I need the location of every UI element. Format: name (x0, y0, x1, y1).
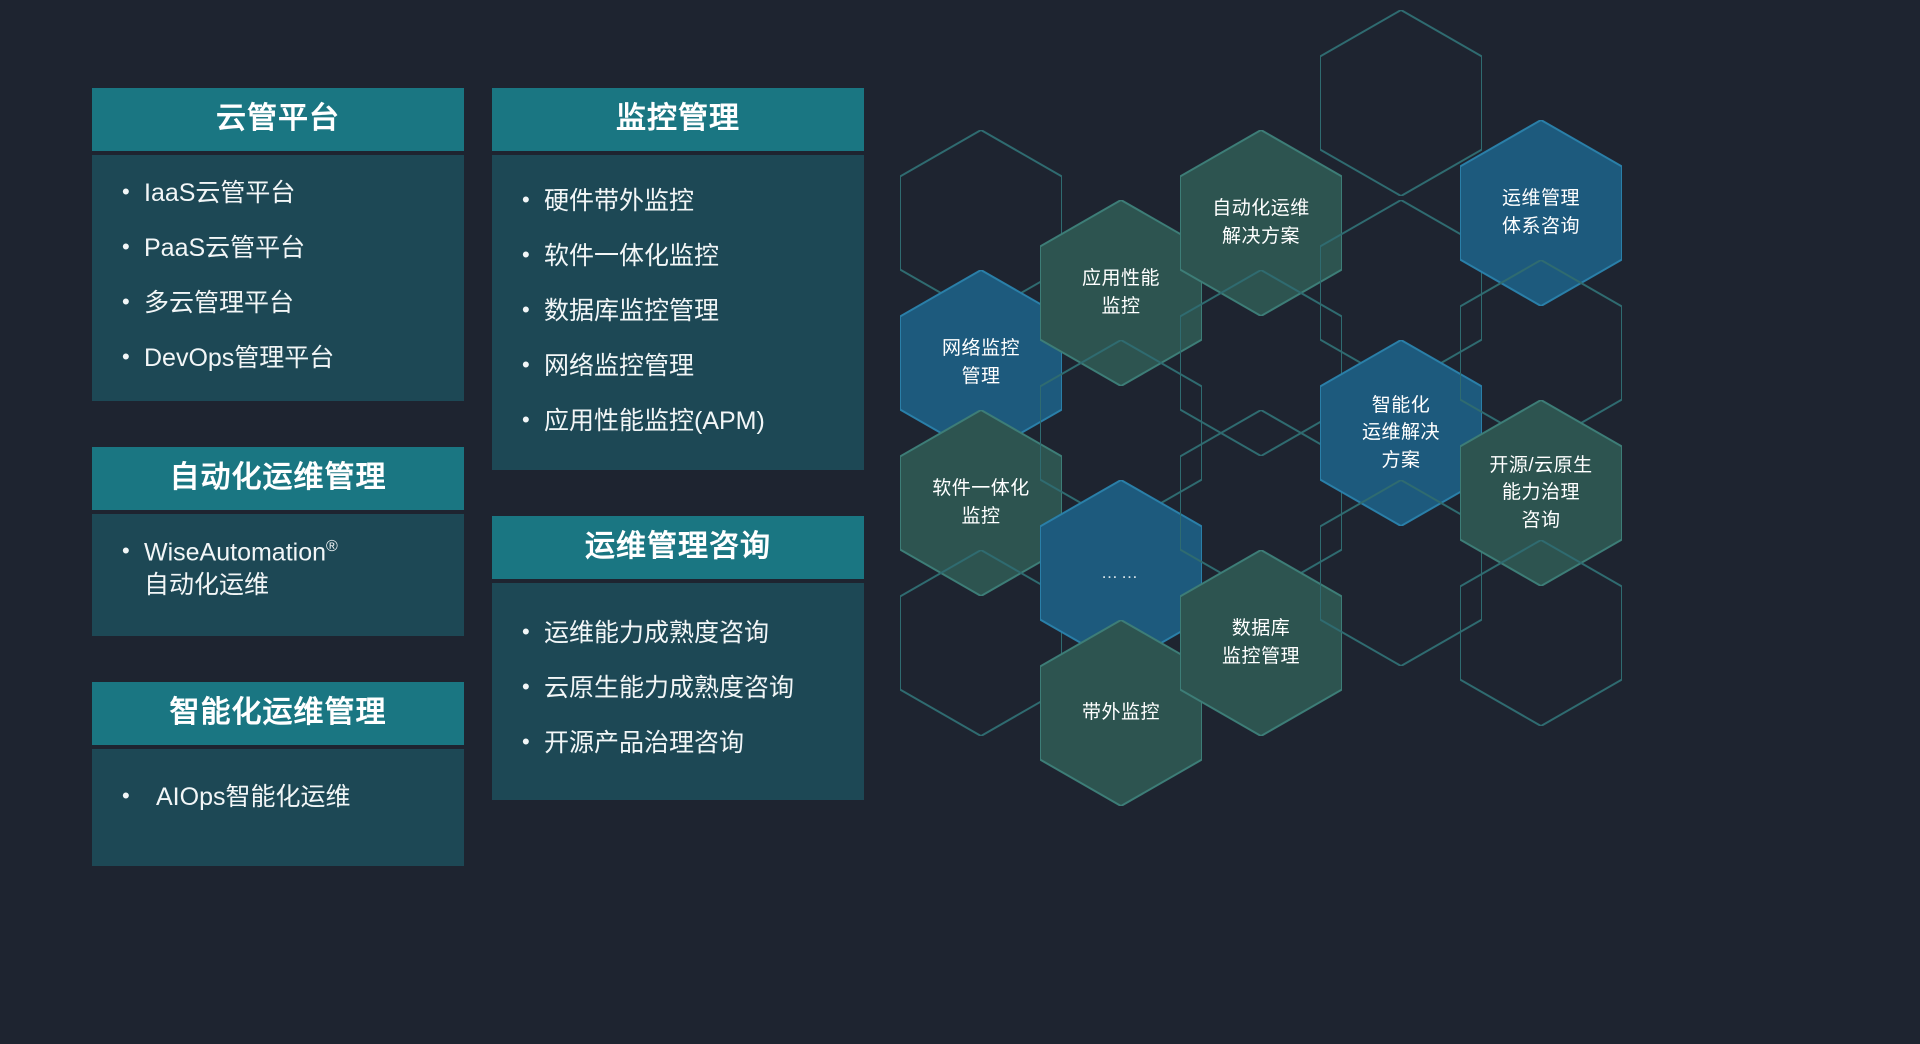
hex-database-monitor-mgmt[interactable]: 数据库 监控管理 (1180, 550, 1342, 736)
list-item-text-wiseautomation: WiseAutomation (144, 538, 326, 566)
hex-out-of-band-monitor-label: 带外监控 (1068, 699, 1174, 727)
list-item: PaaS云管平台 (114, 232, 442, 265)
card-column-right: 监控管理 硬件带外监控 软件一体化监控 数据库监控管理 网络监控管理 应用性能监… (492, 88, 864, 846)
list-item: 硬件带外监控 (514, 185, 842, 218)
list-item: WiseAutomation®自动化运维 (114, 536, 442, 602)
hex-empty-c5r4 (1460, 540, 1622, 726)
card-title-intelligent-ops-mgmt: 智能化运维管理 (92, 682, 464, 745)
list-item: DevOps管理平台 (114, 342, 442, 375)
hex-software-integrated-monitor-label: 软件一体化 监控 (918, 475, 1044, 530)
card-monitoring-mgmt[interactable]: 监控管理 硬件带外监控 软件一体化监控 数据库监控管理 网络监控管理 应用性能监… (492, 88, 864, 470)
card-title-monitoring-mgmt: 监控管理 (492, 88, 864, 151)
hexagon-shape (1320, 480, 1482, 666)
hex-empty-c4r4 (1320, 480, 1482, 666)
card-body-ops-mgmt-consulting: 运维能力成熟度咨询 云原生能力成熟度咨询 开源产品治理咨询 (492, 583, 864, 800)
hexagon-shape (900, 550, 1062, 736)
list-item: 开源产品治理咨询 (514, 727, 842, 760)
card-ops-mgmt-consulting[interactable]: 运维管理咨询 运维能力成熟度咨询 云原生能力成熟度咨询 开源产品治理咨询 (492, 516, 864, 800)
card-title-automation-ops-mgmt: 自动化运维管理 (92, 447, 464, 510)
capability-card-panel: 云管平台 IaaS云管平台 PaaS云管平台 多云管理平台 DevOps管理平台… (0, 0, 900, 1044)
list-item: IaaS云管平台 (114, 177, 442, 210)
card-automation-ops-mgmt[interactable]: 自动化运维管理 WiseAutomation®自动化运维 (92, 447, 464, 636)
registered-trademark-icon: ® (326, 538, 338, 555)
hex-automation-ops-solution-label: 自动化运维 解决方案 (1198, 195, 1324, 250)
list-item: 云原生能力成熟度咨询 (514, 672, 842, 705)
card-column-left: 云管平台 IaaS云管平台 PaaS云管平台 多云管理平台 DevOps管理平台… (92, 88, 464, 912)
hexagon-diagram: 网络监控 管理软件一体化 监控应用性能 监控……带外监控自动化运维 解决方案数据… (900, 0, 1920, 1044)
list-item: 运维能力成熟度咨询 (514, 617, 842, 650)
hex-opensource-cloudnative-consulting-label: 开源/云原生 能力治理 咨询 (1475, 452, 1606, 535)
hex-out-of-band-monitor[interactable]: 带外监控 (1040, 620, 1202, 806)
hexagon-shape (1320, 10, 1482, 196)
list-item: 软件一体化监控 (514, 240, 842, 273)
card-intelligent-ops-mgmt[interactable]: 智能化运维管理 AIOps智能化运维 (92, 682, 464, 866)
hex-empty-c4r1 (1320, 10, 1482, 196)
card-cloud-platform[interactable]: 云管平台 IaaS云管平台 PaaS云管平台 多云管理平台 DevOps管理平台 (92, 88, 464, 401)
hex-app-performance-monitor-label: 应用性能 监控 (1068, 265, 1174, 320)
hex-empty-c1r4 (900, 550, 1062, 736)
card-body-intelligent-ops-mgmt: AIOps智能化运维 (92, 749, 464, 866)
list-item: 应用性能监控(APM) (514, 405, 842, 438)
list-item: AIOps智能化运维 (114, 781, 442, 814)
card-body-monitoring-mgmt: 硬件带外监控 软件一体化监控 数据库监控管理 网络监控管理 应用性能监控(APM… (492, 155, 864, 470)
list-item: 网络监控管理 (514, 350, 842, 383)
hexagon-shape (1460, 540, 1622, 726)
card-title-cloud-platform: 云管平台 (92, 88, 464, 151)
card-body-cloud-platform: IaaS云管平台 PaaS云管平台 多云管理平台 DevOps管理平台 (92, 155, 464, 401)
hex-database-monitor-mgmt-label: 数据库 监控管理 (1208, 615, 1314, 670)
hex-intelligent-ops-solution-label: 智能化 运维解决 方案 (1348, 392, 1454, 475)
slide-root: 云管平台 IaaS云管平台 PaaS云管平台 多云管理平台 DevOps管理平台… (0, 0, 1920, 1044)
card-body-automation-ops-mgmt: WiseAutomation®自动化运维 (92, 514, 464, 636)
hex-ellipsis-label: …… (1087, 561, 1155, 586)
hex-ops-mgmt-system-consulting-label: 运维管理 体系咨询 (1488, 185, 1594, 240)
list-item: 数据库监控管理 (514, 295, 842, 328)
list-item-text-automation-ops: 自动化运维 (144, 571, 269, 599)
card-title-ops-mgmt-consulting: 运维管理咨询 (492, 516, 864, 579)
hex-network-monitor-mgmt-label: 网络监控 管理 (928, 335, 1034, 390)
list-item: 多云管理平台 (114, 287, 442, 320)
